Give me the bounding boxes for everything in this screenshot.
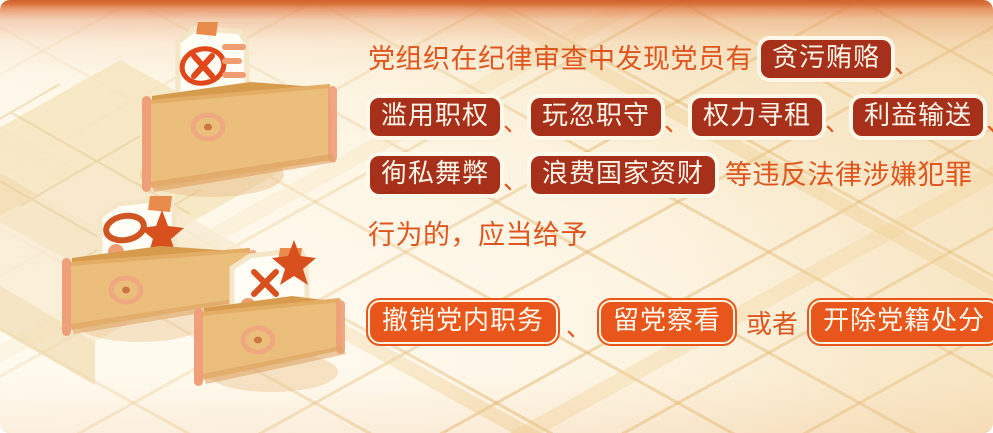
line5-separator-1: 、 — [566, 308, 591, 344]
line2-separator-1: 、 — [503, 103, 528, 139]
line1-separator-1: 、 — [894, 45, 919, 81]
tag-tanwuhuilu[interactable]: 贪污贿赂 — [761, 40, 891, 78]
line2-separator-2: 、 — [664, 103, 689, 139]
line5-conjunction: 或者 — [746, 304, 798, 341]
line3-trailing-text: 等违反法律涉嫌犯罪 — [725, 162, 973, 189]
tag-quanlixunzu[interactable]: 权力寻租 — [692, 98, 822, 136]
tag-lanyongzhiquan[interactable]: 滥用职权 — [370, 98, 500, 136]
line2-separator-4: 、 — [986, 103, 993, 139]
tag-langfeiguojiazicai[interactable]: 浪费国家资财 — [531, 156, 715, 194]
text-line-4: 行为的，应当给予 — [368, 204, 928, 266]
line1-lead-text: 党组织在纪律审查中发现党员有 — [368, 46, 753, 73]
line2-separator-3: 、 — [825, 103, 850, 139]
tag-chexiaodangneizhiwu[interactable]: 撤销党内职务 — [368, 300, 558, 344]
text-line-2: 滥用职权 、 玩忽职守 、 权力寻租 、 利益输送 、 — [368, 88, 928, 146]
tag-liudangchakan[interactable]: 留党察看 — [599, 300, 735, 344]
folder-top — [140, 22, 337, 197]
tag-kaichudangjichufen[interactable]: 开除党籍处分 — [809, 300, 993, 344]
text-line-3: 徇私舞弊 、 浪费国家资财 等违反法律涉嫌犯罪 — [368, 146, 928, 204]
text-line-5: 撤销党内职务 、 留党察看 或者 开除党籍处分 。 — [368, 294, 928, 350]
line3-separator-1: 、 — [503, 161, 528, 197]
tag-liyishusong[interactable]: 利益输送 — [853, 98, 983, 136]
text-column: 党组织在纪律审查中发现党员有 贪污贿赂 、 滥用职权 、 玩忽职守 、 权力寻租… — [368, 30, 928, 350]
line4-text: 行为的，应当给予 — [368, 222, 588, 249]
tag-wanhuzhishou[interactable]: 玩忽职守 — [531, 98, 661, 136]
tag-xusiwubi[interactable]: 徇私舞弊 — [370, 156, 500, 194]
text-line-1: 党组织在纪律审查中发现党员有 贪污贿赂 、 — [368, 30, 928, 88]
isometric-case-files-illustration — [0, 0, 355, 433]
infographic-canvas: 党组织在纪律审查中发现党员有 贪污贿赂 、 滥用职权 、 玩忽职守 、 权力寻租… — [0, 0, 993, 433]
